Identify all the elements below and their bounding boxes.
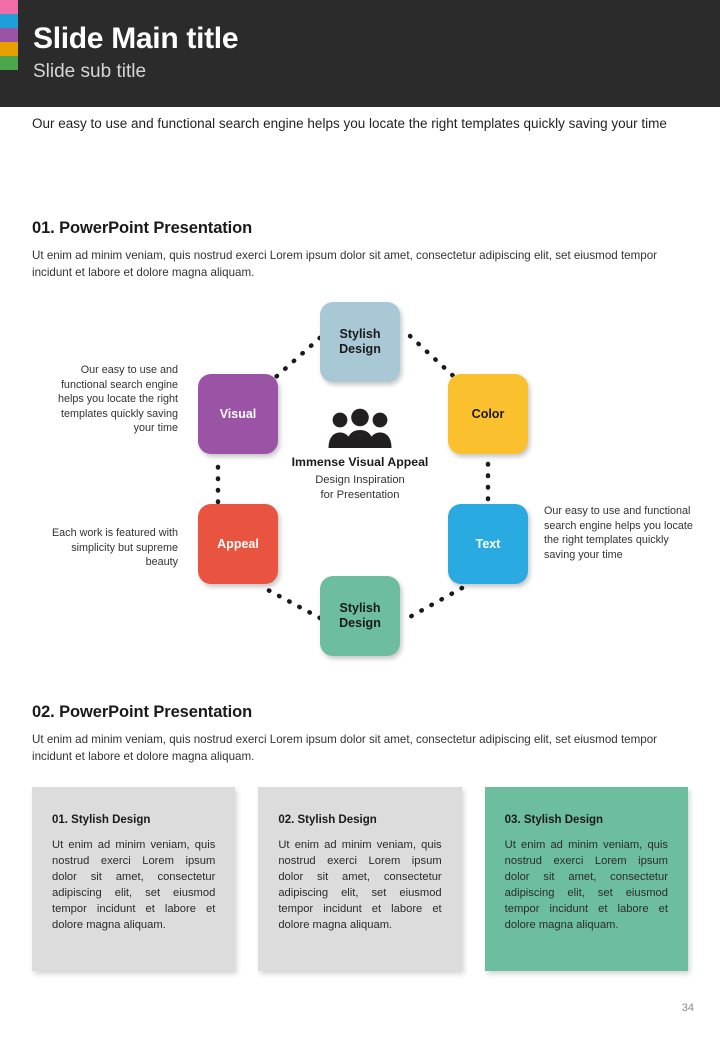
- card-02[interactable]: 02. Stylish Design Ut enim ad minim veni…: [258, 787, 461, 971]
- page-number: 34: [682, 1002, 694, 1014]
- node-stylish-design-bottom-line2: Design: [339, 616, 381, 631]
- node-text[interactable]: Text: [448, 504, 528, 584]
- page-title: Slide Main title: [33, 20, 238, 58]
- section-01-title: 01. PowerPoint Presentation: [32, 219, 692, 238]
- swatch-orange: [0, 42, 18, 56]
- center-subline-1: Design Inspiration: [315, 474, 405, 486]
- node-stylish-design-top-line2: Design: [339, 342, 381, 357]
- slide: Slide Main title Slide sub title Our eas…: [0, 0, 720, 1040]
- node-text-label: Text: [476, 537, 501, 552]
- node-appeal[interactable]: Appeal: [198, 504, 278, 584]
- card-01-body: Ut enim ad minim veniam, quis nostrud ex…: [52, 837, 215, 933]
- section-02-title: 02. PowerPoint Presentation: [32, 703, 692, 722]
- card-01-title: 01. Stylish Design: [52, 814, 215, 826]
- swatch-blue: [0, 14, 18, 28]
- node-visual-label: Visual: [220, 407, 257, 422]
- swatch-pink: [0, 0, 18, 14]
- caption-bottom-left: Each work is featured with simplicity bu…: [40, 526, 178, 570]
- swatch-purple: [0, 28, 18, 42]
- center-headline: Immense Visual Appeal: [280, 454, 440, 470]
- swatch-green: [0, 56, 18, 70]
- card-02-title: 02. Stylish Design: [278, 814, 441, 826]
- diagram-center: Immense Visual Appeal Design Inspiration…: [280, 408, 440, 502]
- section-01-body: Ut enim ad minim veniam, quis nostrud ex…: [32, 247, 692, 281]
- node-stylish-design-bottom[interactable]: Stylish Design: [320, 576, 400, 656]
- three-people-icon: [327, 408, 393, 448]
- caption-top-left: Our easy to use and functional search en…: [40, 363, 178, 436]
- slide-header: Slide Main title Slide sub title: [0, 0, 720, 107]
- section-01: 01. PowerPoint Presentation Ut enim ad m…: [32, 219, 692, 281]
- node-color-label: Color: [472, 407, 505, 422]
- card-03-title: 03. Stylish Design: [505, 814, 668, 826]
- center-subline-2: for Presentation: [321, 489, 400, 501]
- node-appeal-label: Appeal: [217, 537, 259, 552]
- card-01[interactable]: 01. Stylish Design Ut enim ad minim veni…: [32, 787, 235, 971]
- node-stylish-design-top[interactable]: Stylish Design: [320, 302, 400, 382]
- hexagon-cycle-diagram: Visual Stylish Design Color Text Stylish…: [0, 288, 720, 668]
- node-visual[interactable]: Visual: [198, 374, 278, 454]
- node-stylish-design-top-line1: Stylish: [339, 327, 381, 342]
- section-02-body: Ut enim ad minim veniam, quis nostrud ex…: [32, 731, 692, 765]
- color-swatch-strip: [0, 0, 18, 70]
- section-02: 02. PowerPoint Presentation Ut enim ad m…: [32, 703, 692, 765]
- card-03-body: Ut enim ad minim veniam, quis nostrud ex…: [505, 837, 668, 933]
- intro-paragraph: Our easy to use and functional search en…: [32, 113, 692, 134]
- card-03[interactable]: 03. Stylish Design Ut enim ad minim veni…: [485, 787, 688, 971]
- header-titles: Slide Main title Slide sub title: [33, 20, 238, 85]
- caption-right: Our easy to use and functional search en…: [544, 504, 694, 562]
- node-color[interactable]: Color: [448, 374, 528, 454]
- node-stylish-design-bottom-line1: Stylish: [339, 601, 381, 616]
- page-subtitle: Slide sub title: [33, 59, 238, 85]
- card-02-body: Ut enim ad minim veniam, quis nostrud ex…: [278, 837, 441, 933]
- card-row: 01. Stylish Design Ut enim ad minim veni…: [32, 787, 688, 971]
